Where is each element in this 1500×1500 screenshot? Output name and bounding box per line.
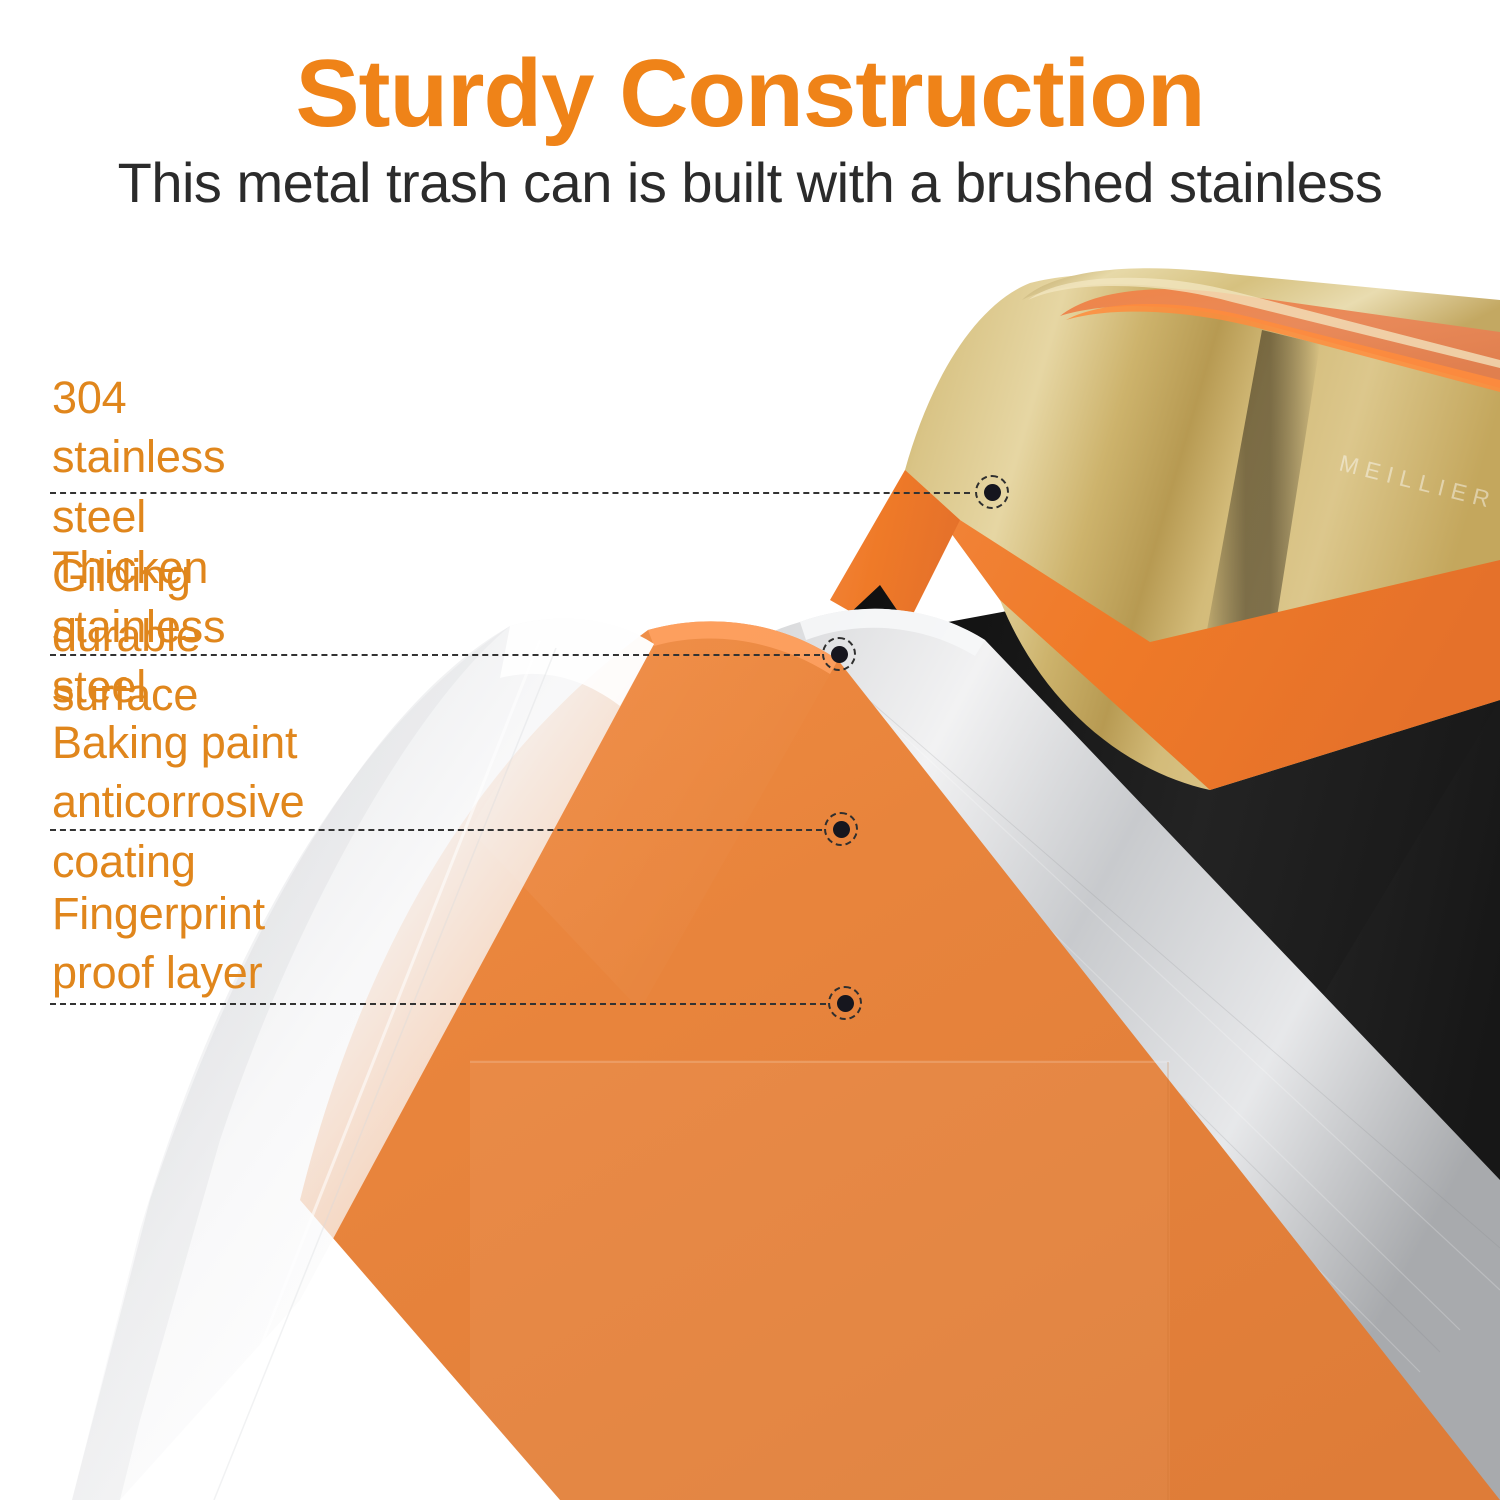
brand-mark: MEILLIER — [1337, 450, 1499, 514]
callout-label-thicken: Thicken stainless steel — [52, 538, 225, 716]
callout-leader-line-fingerprint — [50, 1003, 826, 1005]
callout-leader-line-baking-paint — [50, 829, 822, 831]
callout-dot-fingerprint — [828, 986, 862, 1020]
layer-black-band — [800, 500, 1500, 1500]
layer-stainless-steel-sheet — [620, 609, 1500, 1500]
layer-orange-rim-band — [830, 470, 1500, 940]
callout-label-fingerprint: Fingerprint proof layer — [52, 884, 265, 1003]
infographic-canvas: MEILLIER — [0, 0, 1500, 1500]
callout-leader-line-gilding — [50, 492, 970, 494]
layer-orange-paint-sheet — [300, 621, 1500, 1500]
callout-dot-thicken — [822, 637, 856, 671]
callout-leader-line-thicken — [50, 654, 820, 656]
page-subtitle: This metal trash can is built with a bru… — [0, 152, 1500, 214]
callout-label-baking-paint: Baking paint anticorrosive coating — [52, 713, 305, 891]
layer-gold-lid: MEILLIER — [905, 268, 1500, 790]
page-title: Sturdy Construction — [0, 44, 1500, 145]
layer-black-inner-liner — [880, 520, 1500, 1500]
callout-dot-baking-paint — [824, 812, 858, 846]
callout-dot-gilding — [975, 475, 1009, 509]
